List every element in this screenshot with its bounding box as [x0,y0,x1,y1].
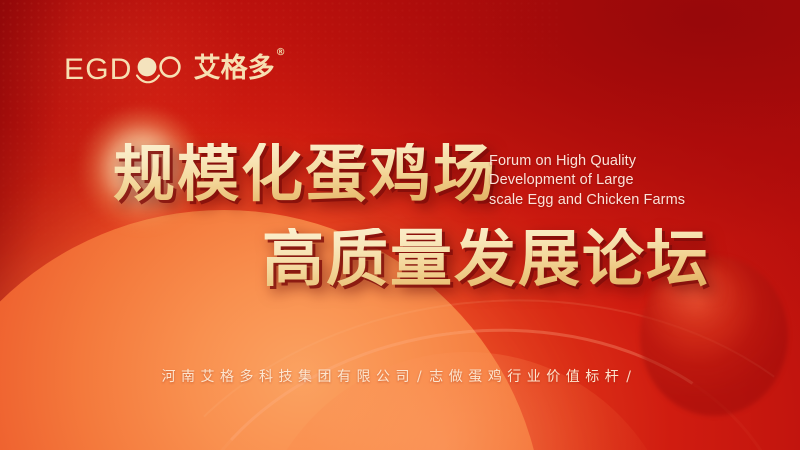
footer-slogan: 志做蛋鸡行业价值标杆 [429,369,624,385]
logo-mark: EGD [64,52,185,86]
footer-separator-2: / [624,369,638,385]
logo-wordmark: EGD [64,55,133,85]
headline-line-1: 规模化蛋鸡场 [113,143,497,205]
ring-circle-icon [160,58,179,77]
subtitle-line-2: Development of Large [489,171,685,190]
english-subtitle: Forum on High Quality Development of Lar… [489,152,685,210]
egg-circle-filled-icon [137,58,156,77]
logo-egg-smile-icon [133,52,185,86]
brand-logo[interactable]: EGD 艾格多® [64,52,285,86]
logo-brand-cn: 艾格多 [194,53,275,84]
footer-tagline: 河南艾格多科技集团有限公司/志做蛋鸡行业价值标杆/ [0,366,800,386]
registered-trademark-icon: ® [276,47,286,58]
logo-brand-cn-wrap: 艾格多® [194,55,285,82]
smile-arc-icon [137,76,159,83]
footer-company: 河南艾格多科技集团有限公司 [162,369,416,385]
poster-banner: EGD 艾格多® 规模化蛋鸡场 高质量发展论坛 Forum on High Qu… [0,0,800,450]
subtitle-line-3: scale Egg and Chicken Farms [489,191,685,210]
subtitle-line-1: Forum on High Quality [489,152,685,171]
footer-separator-1: / [415,369,429,385]
headline-line-2: 高质量发展论坛 [262,228,710,290]
